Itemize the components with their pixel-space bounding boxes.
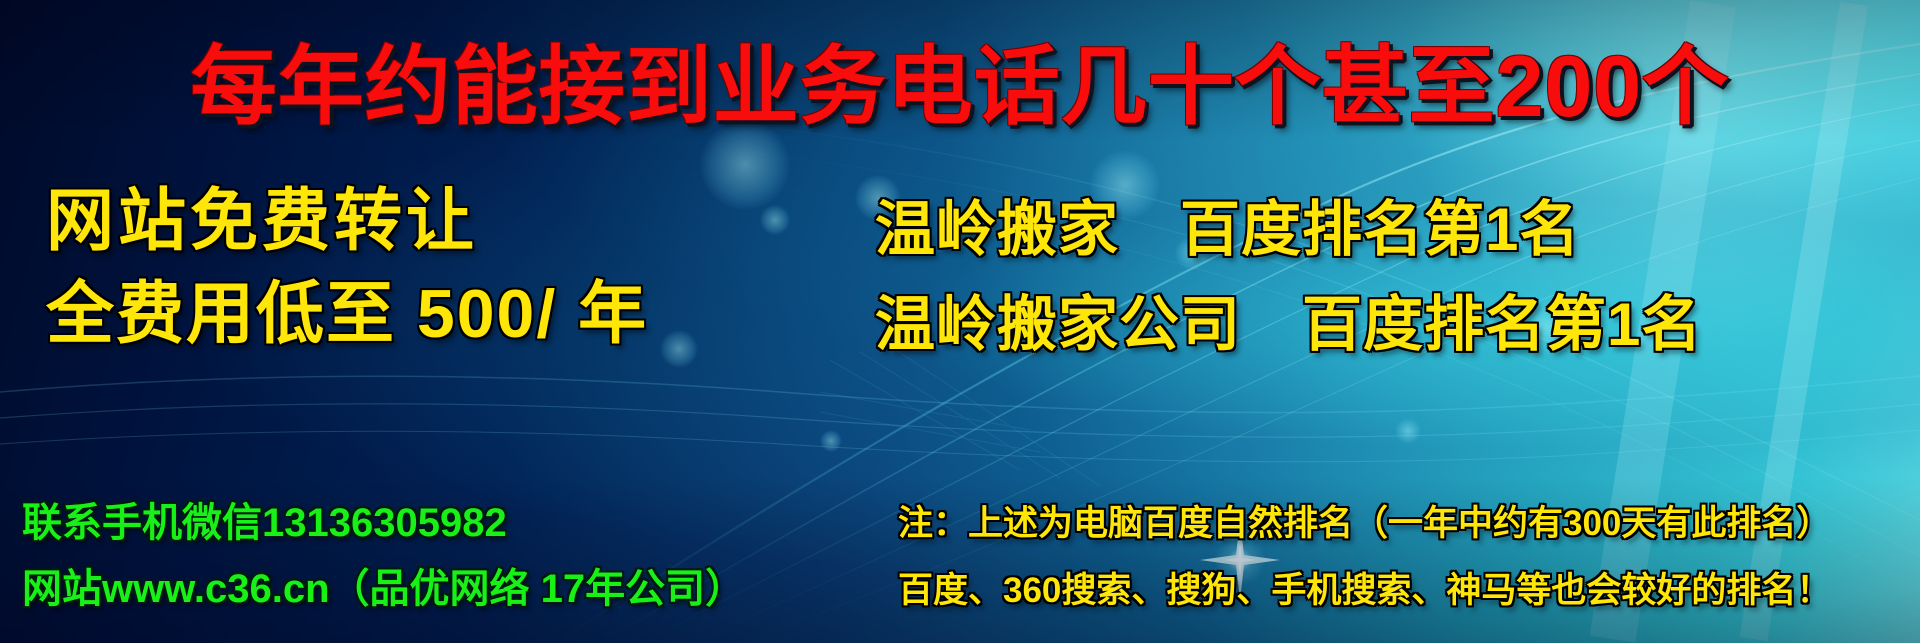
contact-website: 网站www.c36.cn（品优网络 17年公司）	[22, 556, 745, 614]
promo-banner: 每年约能接到业务电话几十个甚至200个 网站免费转让 全费用低至 500/ 年 …	[0, 0, 1920, 643]
bokeh-dot	[820, 430, 842, 452]
bokeh-dot	[660, 330, 698, 368]
ranking-line-2: 温岭搬家公司 百度排名第1名	[875, 276, 1702, 363]
contact-phone-wechat: 联系手机微信13136305982	[22, 490, 507, 548]
note-line-2: 百度、360搜索、搜狗、手机搜索、神马等也会较好的排名！	[898, 562, 1831, 613]
ranking-line-1: 温岭搬家 百度排名第1名	[875, 181, 1580, 268]
bokeh-dot	[760, 205, 790, 235]
bokeh-dot	[1395, 418, 1421, 444]
offer-line-1: 网站免费转让	[46, 165, 478, 264]
offer-line-2: 全费用低至 500/ 年	[46, 258, 648, 357]
note-line-1: 注：上述为电脑百度自然排名（一年中约有300天有此排名）	[898, 495, 1831, 546]
banner-headline: 每年约能接到业务电话几十个甚至200个	[0, 16, 1920, 141]
